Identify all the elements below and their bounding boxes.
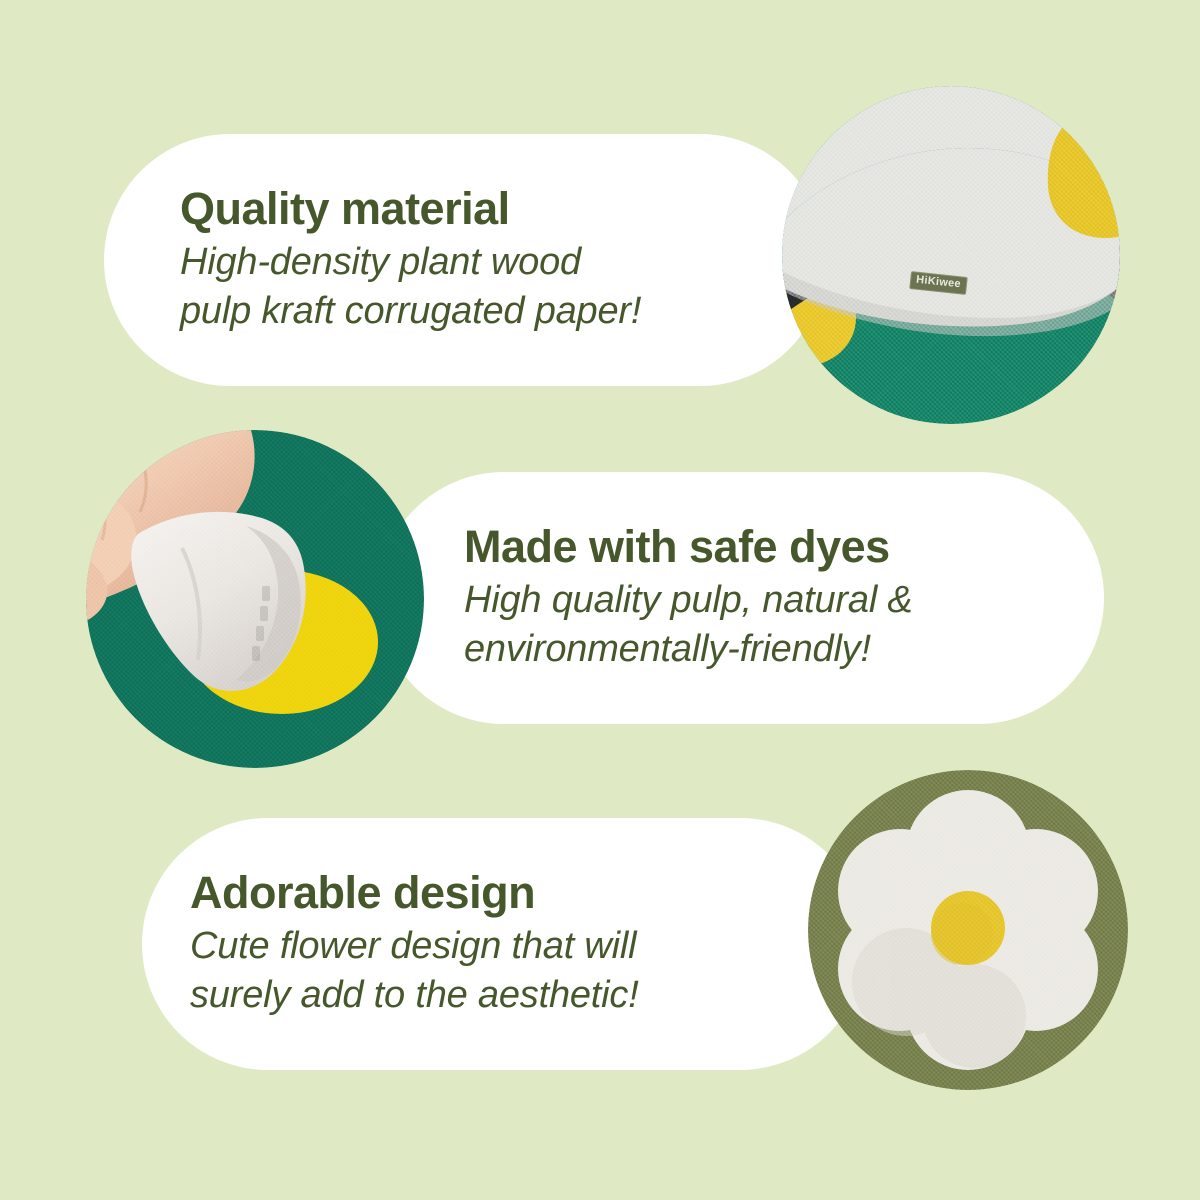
photo-hand-rubbing-coaster <box>86 430 424 768</box>
feature-title: Adorable design <box>190 869 535 917</box>
feature-description: High quality pulp, natural & environment… <box>464 576 913 673</box>
feature-card-safe-dyes: Made with safe dyes High quality pulp, n… <box>378 472 1104 724</box>
feature-description: High-density plant wood pulp kraft corru… <box>180 238 641 335</box>
feature-description: Cute flower design that will surely add … <box>190 922 639 1019</box>
feature-description-line-1: High quality pulp, natural & <box>464 576 913 625</box>
feature-title: Made with safe dyes <box>464 523 890 571</box>
photo-stacked-coasters: HiKiwee <box>782 86 1120 424</box>
product-feature-infographic: Quality material High-density plant wood… <box>0 0 1200 1200</box>
feature-card-adorable-design: Adorable design Cute flower design that … <box>142 818 866 1070</box>
feature-description-line-2: environmentally-friendly! <box>464 625 913 674</box>
feature-card-quality-material: Quality material High-density plant wood… <box>104 134 826 386</box>
feature-description-line-2: pulp kraft corrugated paper! <box>180 287 641 336</box>
photo-flower-coaster <box>808 770 1128 1090</box>
feature-description-line-1: High-density plant wood <box>180 238 641 287</box>
feature-title: Quality material <box>180 185 510 233</box>
feature-description-line-1: Cute flower design that will <box>190 922 639 971</box>
feature-description-line-2: surely add to the aesthetic! <box>190 971 639 1020</box>
